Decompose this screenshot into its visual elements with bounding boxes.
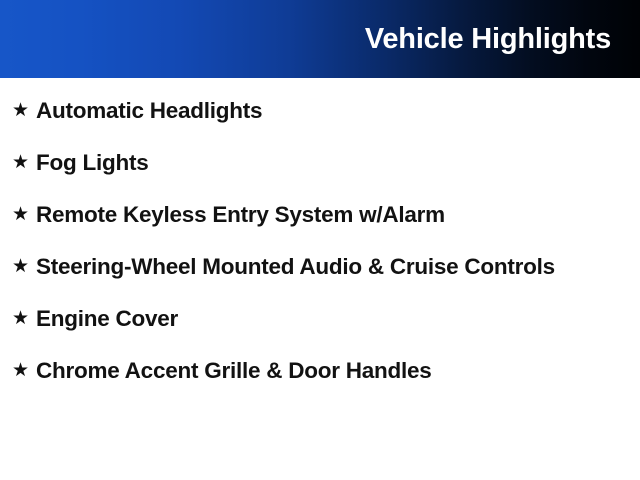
star-icon: ★ [12,304,36,334]
highlight-label: Remote Keyless Entry System w/Alarm [36,200,588,230]
list-item: ★ Remote Keyless Entry System w/Alarm [12,200,622,230]
highlight-label: Chrome Accent Grille & Door Handles [36,356,588,386]
star-icon: ★ [12,252,36,282]
highlight-label: Engine Cover [36,304,588,334]
vehicle-highlights-panel: Vehicle Highlights ★ Automatic Headlight… [0,0,640,480]
header-banner: Vehicle Highlights [0,0,640,78]
highlight-label: Fog Lights [36,148,588,178]
star-icon: ★ [12,148,36,178]
list-item: ★ Fog Lights [12,148,622,178]
highlight-label: Steering-Wheel Mounted Audio & Cruise Co… [36,252,588,282]
list-item: ★ Chrome Accent Grille & Door Handles [12,356,622,386]
highlight-label: Automatic Headlights [36,96,588,126]
star-icon: ★ [12,200,36,230]
page-title: Vehicle Highlights [365,25,640,54]
vehicle-highlights-list: ★ Automatic Headlights ★ Fog Lights ★ Re… [0,78,640,386]
list-item: ★ Steering-Wheel Mounted Audio & Cruise … [12,252,622,282]
list-item: ★ Engine Cover [12,304,622,334]
list-item: ★ Automatic Headlights [12,96,622,126]
star-icon: ★ [12,96,36,126]
star-icon: ★ [12,356,36,386]
